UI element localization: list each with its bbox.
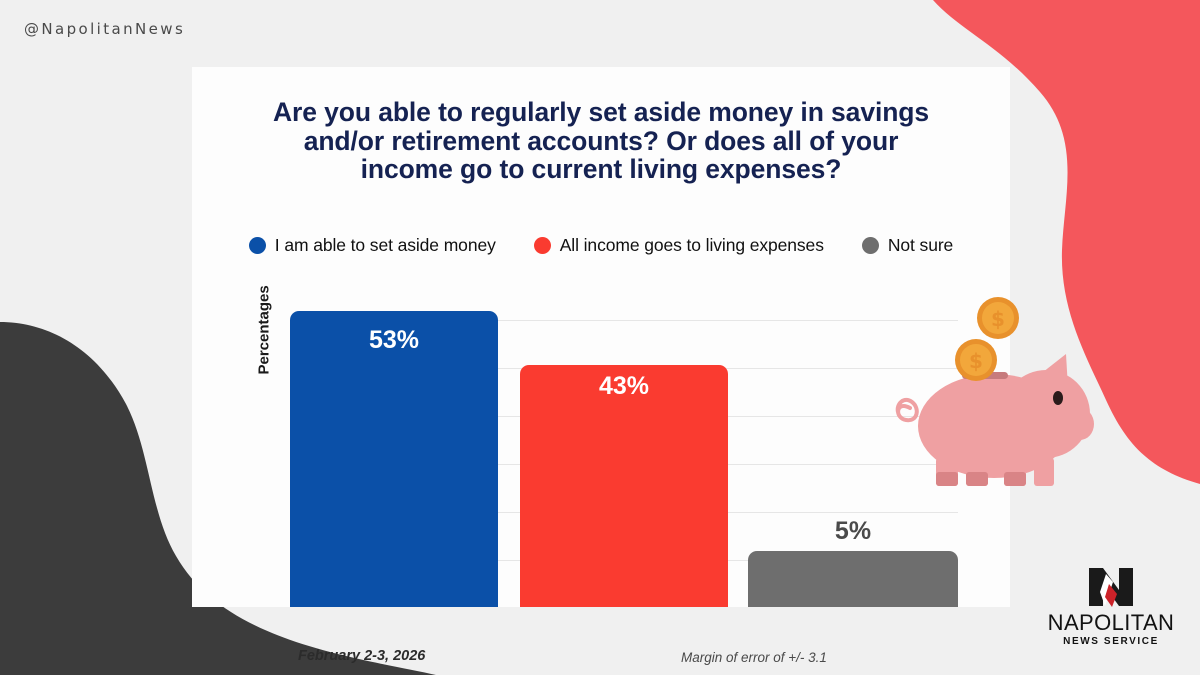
y-axis-label: Percentages bbox=[256, 357, 273, 375]
piggy-snout bbox=[1066, 408, 1094, 440]
poll-date: February 2-3, 2026 bbox=[298, 648, 425, 664]
logo-tagline: NEWS SERVICE bbox=[1043, 636, 1179, 647]
bar-living-expenses[interactable] bbox=[520, 365, 728, 607]
napolitan-logo[interactable]: NAPOLITAN NEWS SERVICE bbox=[1043, 566, 1179, 652]
bar-value-set-aside: 53% bbox=[290, 326, 498, 355]
napolitan-n-mark-icon bbox=[1043, 566, 1179, 608]
margin-of-error: Margin of error of +/- 3.1 bbox=[681, 650, 827, 665]
bar-set-aside[interactable] bbox=[290, 311, 498, 607]
piggy-leg-front-2 bbox=[1034, 458, 1054, 486]
infographic-canvas: @NapolitanNews Are you able to regularly… bbox=[0, 0, 1200, 675]
piggy-head bbox=[1002, 370, 1090, 458]
bar-not-sure[interactable] bbox=[748, 551, 958, 607]
bar-value-living-expenses: 43% bbox=[520, 372, 728, 401]
logo-wordmark: NAPOLITAN bbox=[1043, 610, 1179, 636]
poll-card: Are you able to regularly set aside mone… bbox=[192, 67, 1010, 607]
bar-value-not-sure: 5% bbox=[748, 517, 958, 546]
social-handle: @NapolitanNews bbox=[24, 20, 185, 38]
piggy-ear-icon bbox=[1038, 354, 1068, 388]
piggy-eye-icon bbox=[1053, 391, 1063, 405]
bar-chart-plot: Percentages 53% 43% 5% bbox=[192, 67, 1010, 607]
